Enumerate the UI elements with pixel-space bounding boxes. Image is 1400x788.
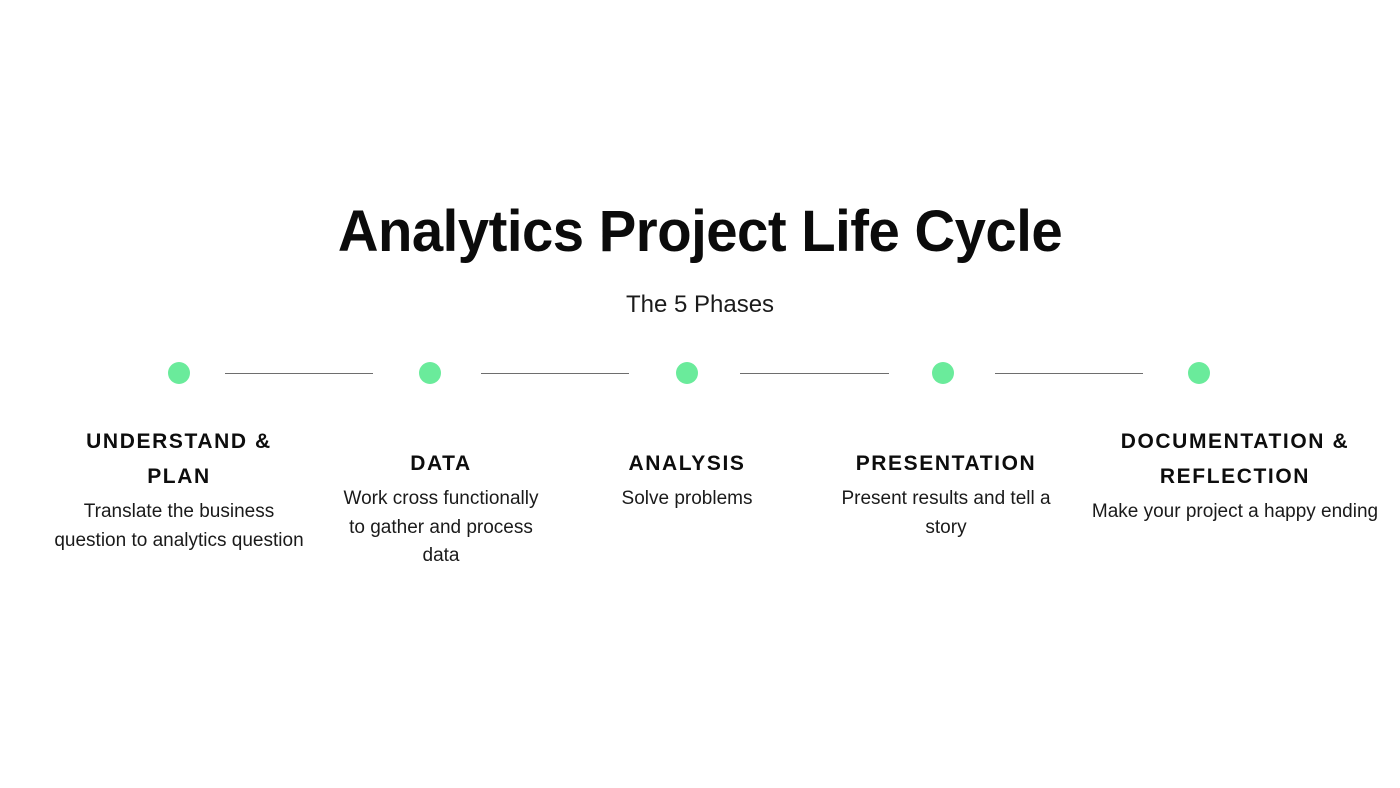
phase-description-5: Make your project a happy ending: [1090, 494, 1380, 527]
phase-item-5: DOCUMENTATION & REFLECTION Make your pro…: [1090, 424, 1380, 527]
phase-description-3: Solve problems: [577, 481, 797, 514]
timeline-dot-icon-2: [419, 362, 441, 384]
phase-item-2: DATA Work cross functionally to gather a…: [336, 446, 546, 571]
timeline-dot-icon-1: [168, 362, 190, 384]
timeline-connector-3: [740, 373, 889, 374]
phase-description-4: Present results and tell a story: [831, 481, 1061, 542]
phase-title-3: ANALYSIS: [577, 446, 797, 481]
phase-title-2: DATA: [336, 446, 546, 481]
timeline-track: [0, 362, 1400, 386]
phase-description-1: Translate the business question to analy…: [51, 494, 307, 555]
phase-list: UNDERSTAND & PLAN Translate the business…: [0, 424, 1400, 624]
timeline-connector-1: [225, 373, 373, 374]
phase-item-1: UNDERSTAND & PLAN Translate the business…: [51, 424, 307, 555]
phase-item-4: PRESENTATION Present results and tell a …: [831, 446, 1061, 542]
phase-title-4: PRESENTATION: [831, 446, 1061, 481]
timeline-dot-icon-3: [676, 362, 698, 384]
timeline-connector-4: [995, 373, 1143, 374]
phase-description-2: Work cross functionally to gather and pr…: [336, 481, 546, 571]
page-subtitle: The 5 Phases: [0, 268, 1400, 320]
slide-canvas: Analytics Project Life Cycle The 5 Phase…: [0, 0, 1400, 788]
heading-block: Analytics Project Life Cycle The 5 Phase…: [0, 196, 1400, 320]
phase-title-5: DOCUMENTATION & REFLECTION: [1090, 424, 1380, 494]
timeline-connector-2: [481, 373, 629, 374]
phase-title-1: UNDERSTAND & PLAN: [51, 424, 307, 494]
phase-item-3: ANALYSIS Solve problems: [577, 446, 797, 514]
timeline-dot-icon-5: [1188, 362, 1210, 384]
timeline-dot-icon-4: [932, 362, 954, 384]
page-title: Analytics Project Life Cycle: [21, 196, 1379, 268]
